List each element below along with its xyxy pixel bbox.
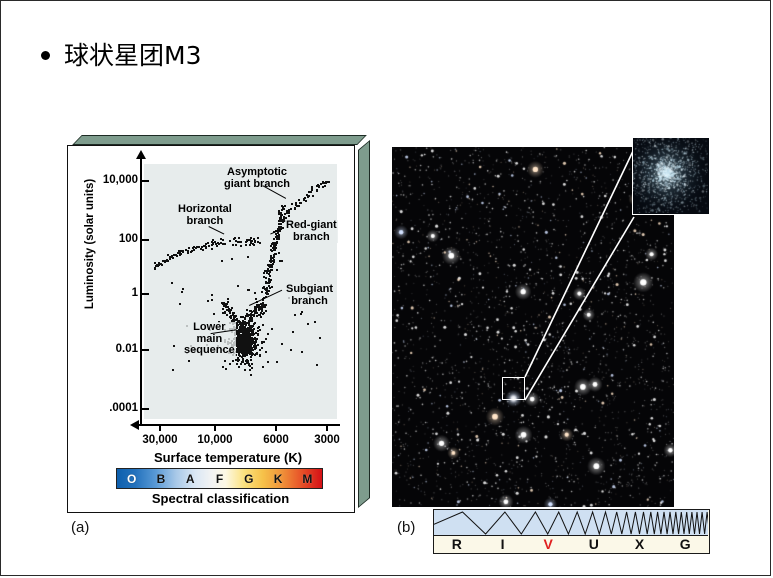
spectrum-band-X: X <box>617 536 663 552</box>
x-axis-title: Surface temperature (K) <box>108 450 348 465</box>
spectrum-band-V: V <box>525 536 571 552</box>
x-tick-2 <box>275 424 277 431</box>
figure-panel-a: 10,000 100 1 0.01 .0001 30,000 10,000 60… <box>67 135 370 516</box>
x-axis-arrow-icon <box>130 420 139 430</box>
figure-panel-b: RIVUXG <box>392 137 710 519</box>
x-axis-line <box>138 424 340 426</box>
x-tick-label-1: 10,000 <box>185 434 245 446</box>
bullet-dot-icon <box>41 51 50 60</box>
y-axis-arrow-icon <box>136 150 146 159</box>
spectrum-band-bar: RIVUXG <box>433 509 710 554</box>
page-title: 球状星团M3 <box>64 43 201 68</box>
spectrum-band-U: U <box>571 536 617 552</box>
spectral-class-A: A <box>176 472 205 486</box>
x-tick-3 <box>326 424 328 431</box>
spectral-class-F: F <box>205 472 234 486</box>
cluster-inset-canvas <box>633 138 708 213</box>
callout-selection-box <box>502 377 525 400</box>
spectral-classification-bar: OBAFGKM <box>116 468 323 489</box>
y-tick-label-3: 0.01 <box>74 343 138 355</box>
slide-canvas: 球状星团M3 10,000 100 1 0.01 .0001 <box>0 0 771 576</box>
slab-top-face <box>72 135 367 145</box>
spectral-class-K: K <box>263 472 292 486</box>
x-tick-label-0: 30,000 <box>130 434 190 446</box>
x-tick-0 <box>159 424 161 431</box>
spectral-class-O: O <box>117 472 146 486</box>
spectrum-waveform <box>434 510 708 536</box>
spectrum-band-letters: RIVUXG <box>434 536 708 552</box>
spectral-classification-title: Spectral classification <box>88 491 353 506</box>
spectrum-band-R: R <box>434 536 480 552</box>
spectrum-band-G: G <box>662 536 708 552</box>
cluster-inset-image <box>632 137 710 215</box>
spectrum-band-I: I <box>480 536 526 552</box>
annotation-leader-lines <box>144 164 337 419</box>
panel-a-label: (a) <box>71 519 89 536</box>
spectral-class-M: M <box>293 472 322 486</box>
y-axis-line <box>140 158 142 426</box>
y-tick-label-4: .0001 <box>74 402 138 414</box>
slide-title-row: 球状星团M3 <box>41 43 201 68</box>
y-axis-title: Luminosity (solar units) <box>84 169 96 319</box>
panel-b-label: (b) <box>397 519 415 536</box>
spectral-class-B: B <box>146 472 175 486</box>
x-tick-1 <box>214 424 216 431</box>
scatter-plot: Asymptotic giant branchHorizontal branch… <box>144 164 337 419</box>
slab-right-face <box>358 140 370 508</box>
x-tick-label-3: 3000 <box>297 434 357 446</box>
hr-diagram-card: 10,000 100 1 0.01 .0001 30,000 10,000 60… <box>67 145 355 513</box>
spectral-class-G: G <box>234 472 263 486</box>
